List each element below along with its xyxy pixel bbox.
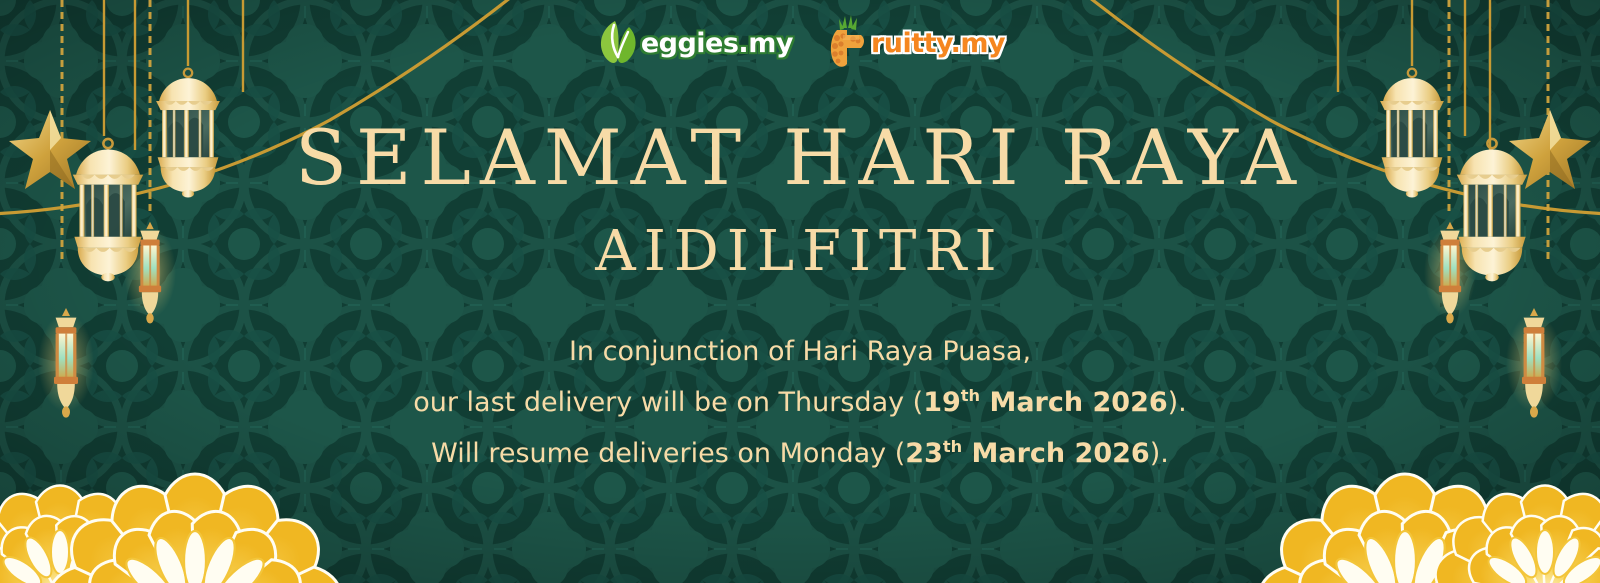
banner-content: eggies.my xyxy=(0,0,1600,583)
title-block: SELAMAT HARI RAYA AIDILFITRI xyxy=(0,120,1600,280)
last-delivery-date: March 2026 xyxy=(980,387,1168,418)
leaf-v-icon xyxy=(595,15,641,71)
notice-line-2: our last delivery will be on Thursday (1… xyxy=(0,374,1600,425)
last-delivery-ordinal: th xyxy=(961,386,980,405)
notice-line-3-prefix: Will resume deliveries on Monday ( xyxy=(431,438,905,469)
resume-delivery-date: March 2026 xyxy=(962,438,1150,469)
veggies-logo-text: eggies.my xyxy=(641,28,793,59)
notice-line-2-prefix: our last delivery will be on Thursday ( xyxy=(413,387,923,418)
notice-line-3: Will resume deliveries on Monday (23th M… xyxy=(0,425,1600,476)
fruitty-logo[interactable]: ruitty.my xyxy=(823,14,1005,72)
notice-message: In conjunction of Hari Raya Puasa, our l… xyxy=(0,330,1600,476)
fruitty-logo-text: ruitty.my xyxy=(871,28,1005,59)
notice-line-3-suffix: ). xyxy=(1150,438,1169,469)
pineapple-f-icon xyxy=(823,14,871,72)
logo-row: eggies.my xyxy=(0,14,1600,72)
resume-delivery-day: 23 xyxy=(905,438,943,469)
page-subtitle: AIDILFITRI xyxy=(0,224,1600,280)
last-delivery-day: 19 xyxy=(923,387,961,418)
notice-line-1: In conjunction of Hari Raya Puasa, xyxy=(0,330,1600,374)
resume-delivery-ordinal: th xyxy=(943,437,962,456)
notice-line-2-suffix: ). xyxy=(1168,387,1187,418)
veggies-logo[interactable]: eggies.my xyxy=(595,15,793,71)
hari-raya-banner: eggies.my xyxy=(0,0,1600,583)
page-title: SELAMAT HARI RAYA xyxy=(0,120,1600,196)
